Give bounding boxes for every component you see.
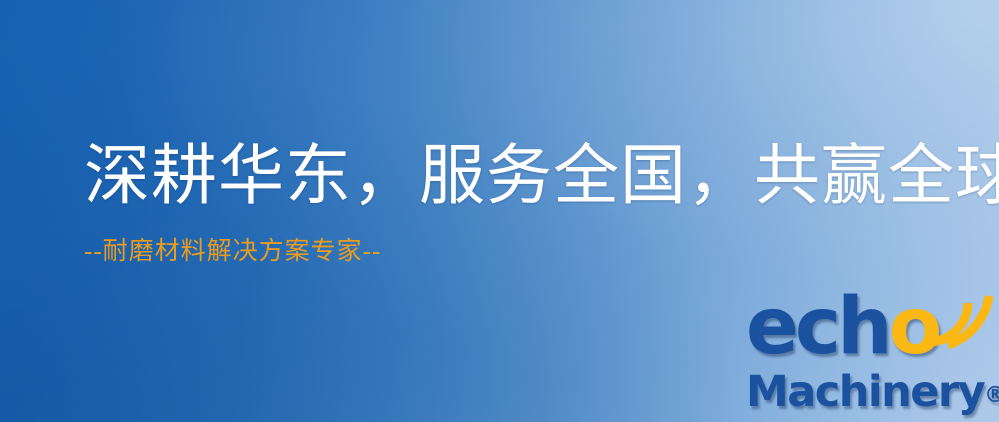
signal-waves-icon — [922, 288, 994, 350]
registered-trademark-icon: ® — [984, 383, 999, 408]
logo-wordmark: echo — [746, 286, 938, 368]
company-logo[interactable]: echo Machinery® — [744, 292, 994, 420]
banner-headline: 深耕华东，服务全国，共赢全球 — [84, 142, 964, 211]
hero-banner: 深耕华东，服务全国，共赢全球 --耐磨材料解决方案专家-- echo Machi… — [0, 0, 999, 422]
banner-copy: 深耕华东，服务全国，共赢全球 --耐磨材料解决方案专家-- — [84, 142, 964, 267]
logo-tagline: Machinery® — [746, 368, 999, 420]
banner-subheadline: --耐磨材料解决方案专家-- — [84, 237, 964, 267]
logo-tagline-text: Machinery — [746, 367, 984, 417]
logo-wordmark-prefix: ech — [746, 282, 889, 372]
logo-mark: echo — [744, 292, 994, 374]
